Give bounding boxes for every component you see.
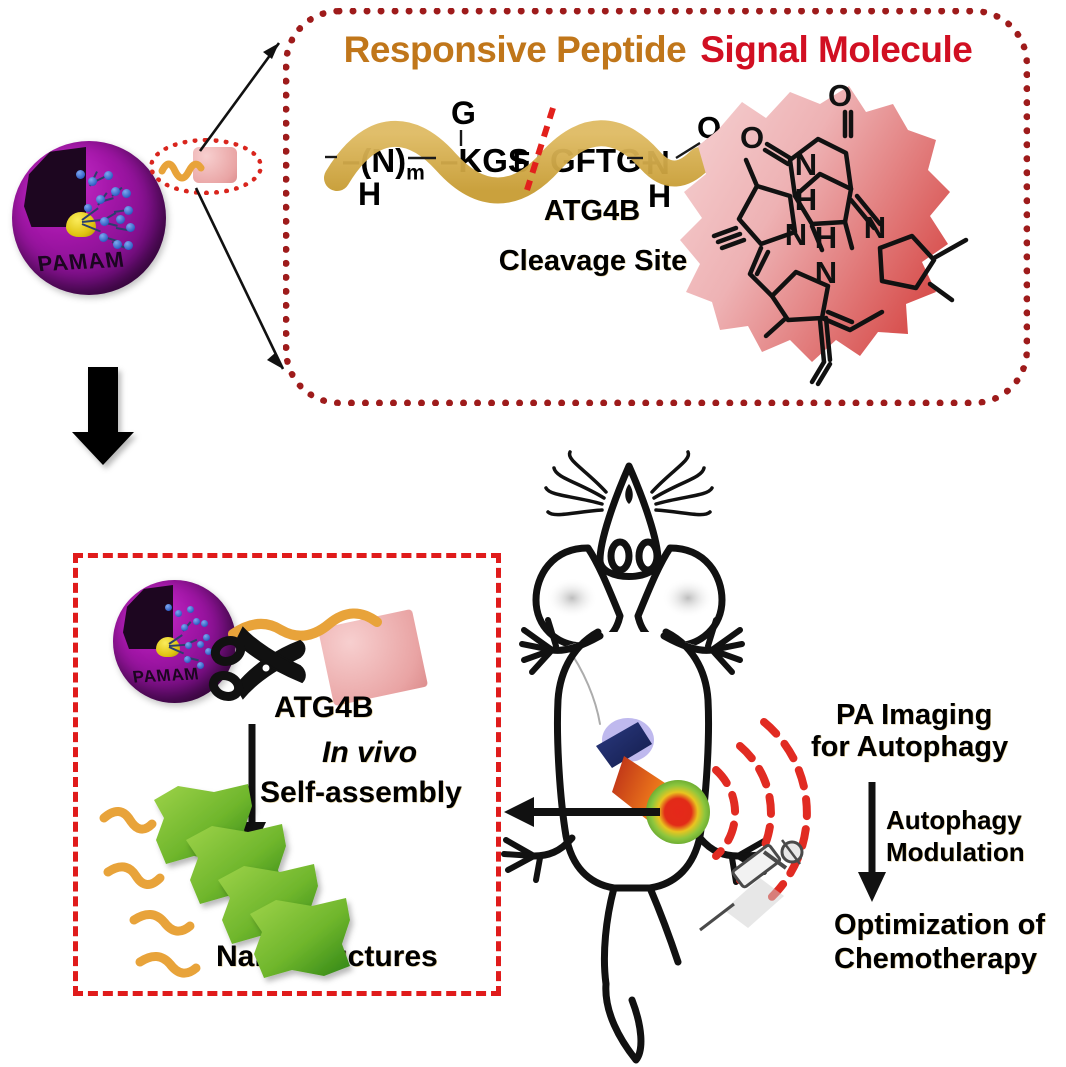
nanostructure-stack — [104, 784, 350, 978]
mouse-front-paw-left — [522, 620, 556, 672]
expansion-arrow-lower — [196, 188, 283, 369]
peptide-ribbon — [337, 133, 700, 190]
expansion-arrow-lower-head — [267, 353, 283, 369]
svg-text:H: H — [795, 182, 817, 217]
svg-text:H: H — [815, 220, 837, 255]
figure-artwork: O O N H N H N N — [0, 0, 1066, 1067]
mini-peptide-squiggle — [162, 164, 201, 178]
svg-text:N: N — [815, 255, 837, 290]
svg-text:N: N — [785, 217, 807, 252]
svg-text:N: N — [795, 147, 817, 182]
expansion-arrow-upper — [200, 43, 279, 151]
flow-arrow — [858, 782, 886, 902]
main-down-arrow — [72, 367, 134, 465]
svg-text:O: O — [740, 120, 764, 155]
expansion-arrow-upper-head — [263, 43, 279, 59]
peptide-linker-squiggle — [233, 613, 377, 635]
mouse-front-paw-right — [708, 620, 742, 672]
mouse-hind-paw-left — [504, 840, 540, 880]
svg-text:O: O — [828, 78, 852, 113]
svg-text:N: N — [864, 210, 886, 245]
